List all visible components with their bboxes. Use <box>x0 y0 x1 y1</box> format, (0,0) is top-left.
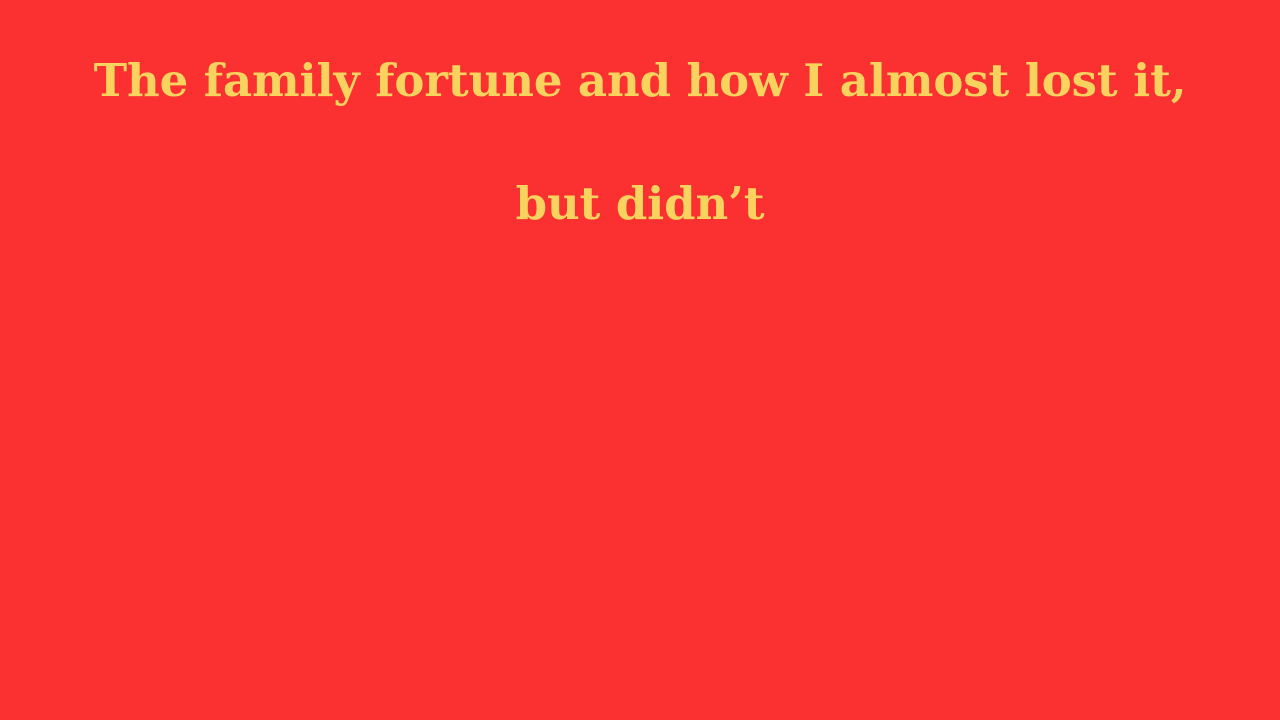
caption-block: The family fortune and how I almost lost… <box>0 0 1280 226</box>
empty-stage-area <box>0 280 1280 720</box>
slide-canvas: The family fortune and how I almost lost… <box>0 0 1280 720</box>
caption-line-primary: The family fortune and how I almost lost… <box>0 58 1280 103</box>
caption-line-secondary: but didn’t <box>0 103 1280 226</box>
